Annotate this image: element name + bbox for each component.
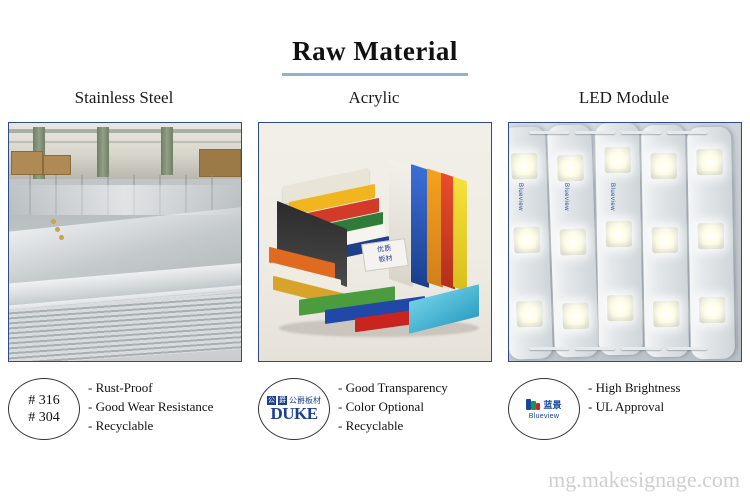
steel-crate bbox=[199, 149, 241, 177]
title-underline bbox=[282, 73, 468, 76]
steel-image bbox=[9, 123, 241, 361]
duke-logo: 公 爵 公爵板材 DUKE bbox=[267, 396, 321, 422]
led-chip bbox=[650, 153, 676, 179]
bullet-item: - Rust-Proof bbox=[88, 378, 242, 397]
led-chip bbox=[652, 227, 678, 253]
steel-crate bbox=[43, 155, 71, 175]
led-brand-text: Blueview bbox=[609, 183, 615, 211]
column-header-stainless-steel: Stainless Steel bbox=[8, 88, 240, 108]
led-chip bbox=[513, 227, 540, 254]
blueview-logo-row: 蓝景 bbox=[526, 398, 561, 411]
poster-root: Raw Material Stainless Steel Acrylic LED… bbox=[0, 0, 750, 497]
bullet-item: - UL Approval bbox=[588, 397, 742, 416]
steel-highlight bbox=[59, 235, 64, 240]
column-headers: Stainless Steel Acrylic LED Module bbox=[0, 88, 750, 114]
led-wire bbox=[621, 347, 661, 350]
steel-grade-304: # 304 bbox=[28, 409, 60, 426]
steel-pillar bbox=[161, 127, 173, 175]
steel-reflection bbox=[9, 185, 241, 215]
led-chip bbox=[604, 147, 630, 173]
led-chip bbox=[698, 223, 724, 249]
steel-pillar bbox=[97, 127, 109, 177]
acrylic-image: 优质 板材 bbox=[259, 123, 491, 361]
led-chip bbox=[606, 221, 632, 247]
led-chip bbox=[557, 155, 584, 182]
led-brand-text: Blueview bbox=[517, 183, 523, 211]
feature-stainless-steel: # 316 # 304 - Rust-Proof - Good Wear Res… bbox=[8, 372, 242, 450]
led-brand-text: Blueview bbox=[563, 183, 569, 211]
led-module bbox=[547, 124, 599, 357]
footer: mg.makesignage.com bbox=[0, 459, 750, 497]
led-module bbox=[595, 123, 643, 356]
page-title: Raw Material bbox=[0, 36, 750, 67]
led-wire bbox=[529, 347, 569, 350]
blueview-logo: 蓝景 Blueview bbox=[526, 398, 561, 420]
bullets-acrylic: - Good Transparency - Color Optional - R… bbox=[338, 378, 492, 435]
led-chip bbox=[653, 301, 679, 327]
steel-highlight bbox=[55, 227, 60, 232]
steel-highlight bbox=[51, 219, 56, 224]
led-module bbox=[687, 127, 735, 360]
blueview-brand-cn: 蓝景 bbox=[543, 398, 561, 411]
led-wire bbox=[667, 131, 707, 134]
bullet-item: - Recyclable bbox=[88, 416, 242, 435]
led-chip bbox=[511, 153, 538, 180]
bullet-item: - Recyclable bbox=[338, 416, 492, 435]
led-wire bbox=[621, 131, 661, 134]
photo-stainless-steel bbox=[8, 122, 242, 362]
bullet-item: - Good Transparency bbox=[338, 378, 492, 397]
column-header-acrylic: Acrylic bbox=[258, 88, 490, 108]
led-chip bbox=[562, 303, 589, 330]
photo-led-module: Blueview Blueview Blueview bbox=[508, 122, 742, 362]
bullets-led-module: - High Brightness - UL Approval bbox=[588, 378, 742, 416]
bullets-stainless-steel: - Rust-Proof - Good Wear Resistance - Re… bbox=[88, 378, 242, 435]
led-module bbox=[508, 126, 553, 359]
led-module bbox=[641, 125, 689, 358]
page-title-block: Raw Material bbox=[0, 36, 750, 76]
blueview-logo-mark bbox=[526, 398, 540, 411]
led-wire bbox=[529, 131, 569, 134]
led-wire bbox=[575, 347, 615, 350]
footer-watermark: mg.makesignage.com bbox=[548, 467, 740, 493]
led-wire bbox=[575, 131, 615, 134]
badge-steel-grades: # 316 # 304 bbox=[8, 378, 80, 440]
led-wire bbox=[667, 347, 707, 350]
feature-led-module: 蓝景 Blueview - High Brightness - UL Appro… bbox=[508, 372, 742, 450]
led-chip bbox=[696, 149, 722, 175]
steel-grade-316: # 316 bbox=[28, 392, 60, 409]
led-chip bbox=[560, 229, 587, 256]
feature-acrylic: 公 爵 公爵板材 DUKE - Good Transparency - Colo… bbox=[258, 372, 492, 450]
led-image: Blueview Blueview Blueview bbox=[509, 123, 741, 361]
bullet-item: - Color Optional bbox=[338, 397, 492, 416]
duke-brand-en: DUKE bbox=[270, 405, 317, 422]
steel-crate bbox=[11, 151, 43, 175]
bullet-item: - High Brightness bbox=[588, 378, 742, 397]
bullet-item: - Good Wear Resistance bbox=[88, 397, 242, 416]
column-header-led-module: LED Module bbox=[508, 88, 740, 108]
acrylic-sheet-standing-yellow bbox=[453, 177, 467, 292]
photo-acrylic: 优质 板材 bbox=[258, 122, 492, 362]
badge-blueview-logo: 蓝景 Blueview bbox=[508, 378, 580, 440]
badge-duke-logo: 公 爵 公爵板材 DUKE bbox=[258, 378, 330, 440]
led-chip bbox=[607, 295, 633, 321]
led-chip bbox=[516, 301, 543, 328]
blueview-brand-en: Blueview bbox=[529, 413, 559, 420]
led-chip bbox=[699, 297, 725, 323]
